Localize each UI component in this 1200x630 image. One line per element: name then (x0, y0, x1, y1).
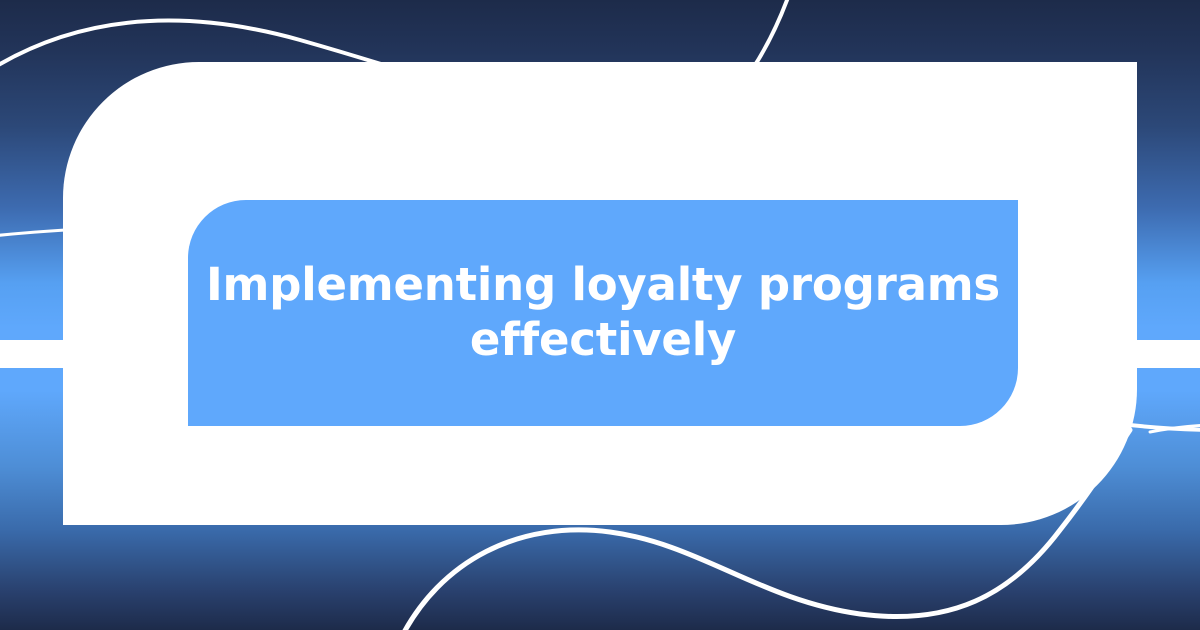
title-accent-panel: Implementing loyalty programs effectivel… (188, 200, 1018, 426)
left-white-band (0, 340, 64, 368)
right-arc-curve (1150, 425, 1200, 432)
banner-root: Implementing loyalty programs effectivel… (0, 0, 1200, 630)
page-title-line-1: Implementing loyalty programs (206, 258, 1000, 311)
right-white-band (1134, 340, 1200, 368)
page-title: Implementing loyalty programs effectivel… (188, 258, 1018, 368)
page-title-line-2: effectively (470, 313, 736, 366)
